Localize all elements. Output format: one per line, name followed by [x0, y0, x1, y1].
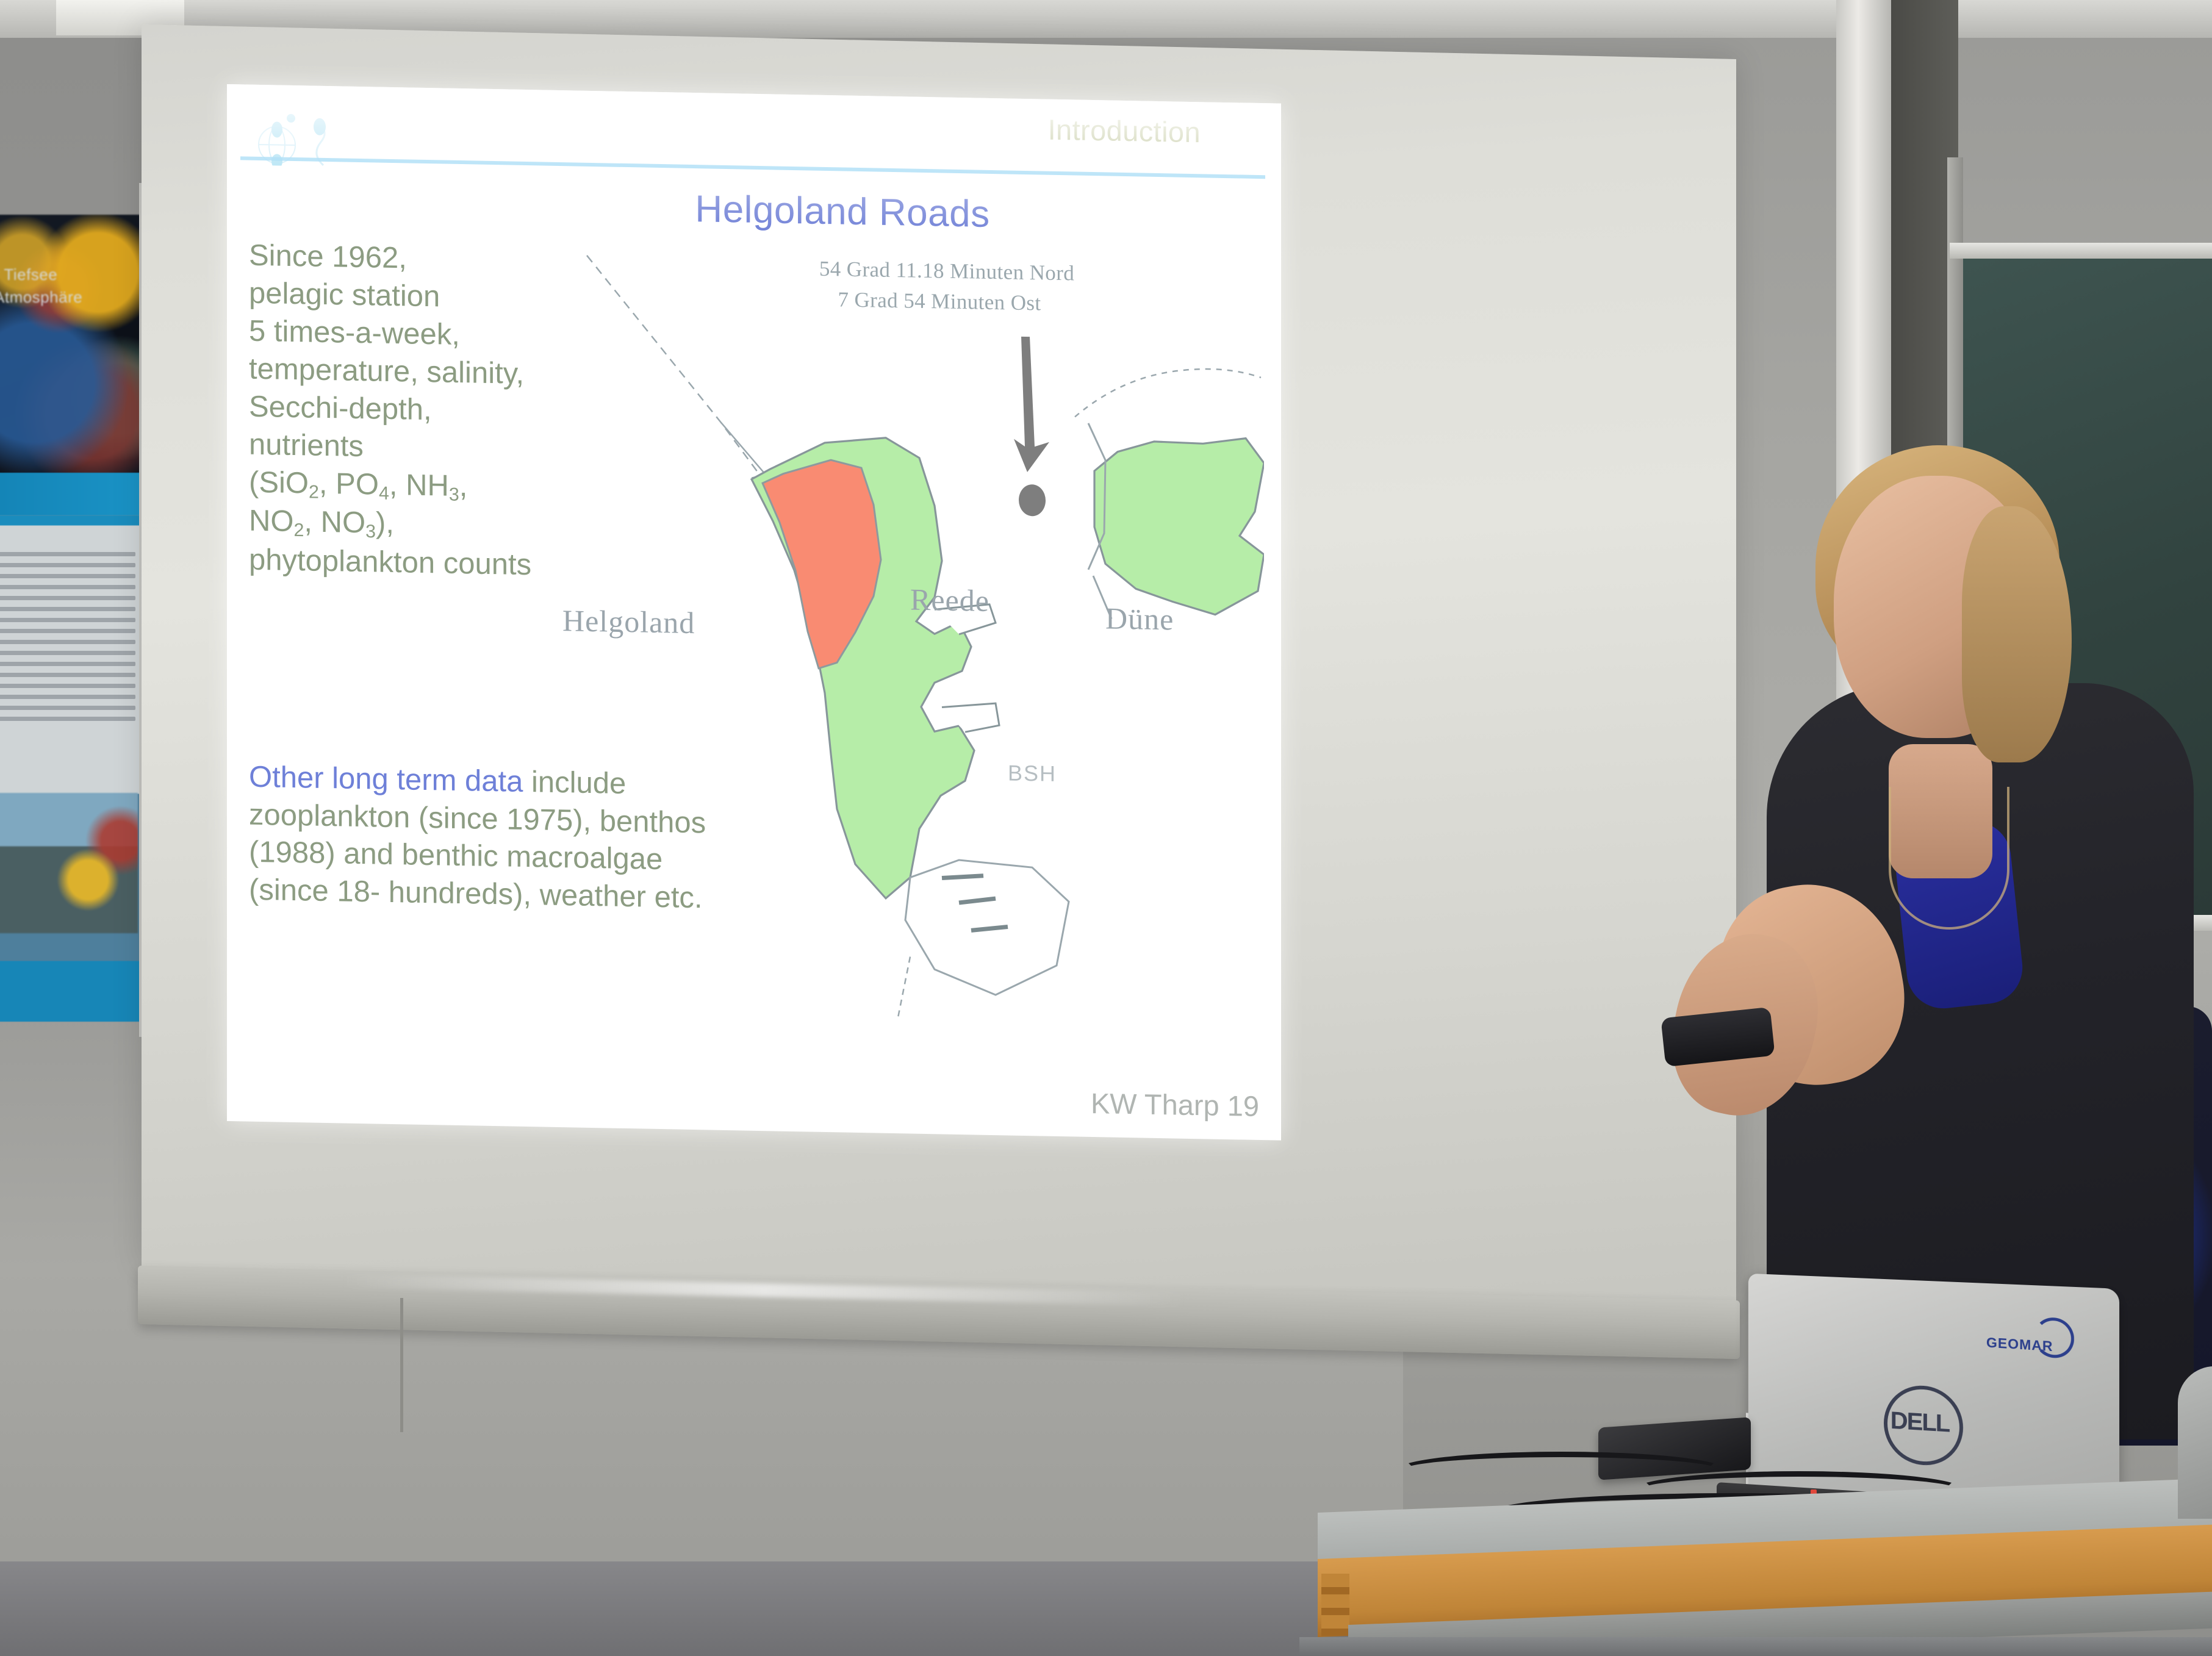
helgoland-map: 54 Grad 11.18 Minuten Nord 7 Grad 54 Min…: [569, 237, 1264, 1036]
map-label-helgoland: Helgoland: [562, 603, 695, 640]
slide-title: Helgoland Roads: [227, 179, 1281, 242]
body-bottom-highlight: Other long term data: [249, 761, 523, 798]
chalkboard-top-rail: [1950, 243, 2212, 259]
map-label-dune: Düne: [1105, 600, 1174, 637]
poster-line-2: Atmosphäre: [0, 286, 116, 309]
map-label-reede: Reede: [910, 582, 989, 618]
slide-footer: KW Tharp 19: [1091, 1086, 1259, 1123]
dell-logo-text: DELL: [1887, 1407, 1952, 1438]
wall-poster-photo: [0, 793, 138, 933]
map-coordinates: 54 Grad 11.18 Minuten Nord 7 Grad 54 Min…: [752, 253, 1142, 320]
wall-poster-deep-sea-text: r Tiefsee Atmosphäre: [0, 263, 116, 309]
poster-line-1: r Tiefsee: [0, 263, 116, 286]
down-arrow-station-marker-icon: [1014, 337, 1049, 517]
slide-header-rule: [240, 156, 1265, 179]
wall-poster-body-text: [0, 552, 135, 728]
wall-poster-deep-sea: [0, 215, 140, 477]
table-corner-joint: [1321, 1574, 1349, 1636]
geomar-sticker: GEOMAR: [1985, 1314, 2077, 1360]
projected-slide: Introduction Helgoland Roads Since 1962,…: [227, 84, 1281, 1141]
floor: [1299, 1637, 2212, 1656]
speaker: [2178, 1366, 2212, 1519]
presenter-necklace: [1889, 787, 2009, 930]
map-source-bsh: BSH: [1008, 760, 1057, 786]
wall-poster-header-band: [0, 473, 140, 515]
geomar-sticker-text: GEOMAR: [1986, 1335, 2053, 1355]
screen-pull-cord[interactable]: [400, 1298, 403, 1432]
slide-kicker: Introduction: [1048, 113, 1201, 149]
lecture-room-scene: r Tiefsee Atmosphäre: [0, 0, 2212, 1656]
baseboard: [0, 1561, 1391, 1656]
